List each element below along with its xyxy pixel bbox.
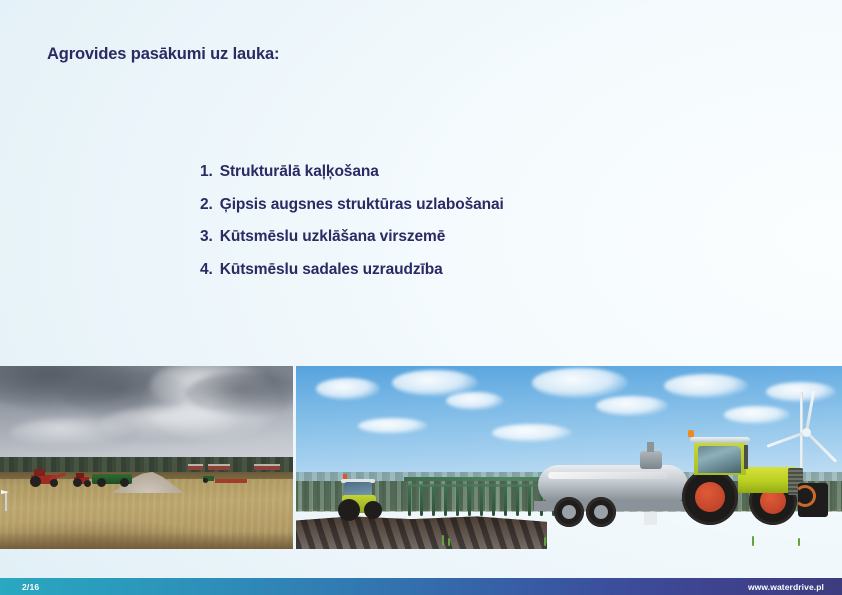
list-item-number: 2. [200,196,213,214]
claas-tractor [676,437,828,525]
field-marker-flag [5,491,7,511]
photo-lime-spreading [0,366,293,549]
page-title: Agrovides pasākumi uz lauka: [47,45,279,64]
list-item-label: Kūtsmēslu uzklāšana virszemē [220,228,446,246]
slurry-tanker [528,461,698,527]
wind-turbine-hub [802,428,811,437]
list-item: 4. Kūtsmēslu sadales uzraudzība [200,261,760,279]
list-item-number: 3. [200,228,213,246]
footer-website-url[interactable]: www.waterdrive.pl [748,578,824,595]
list-item-label: Ģipsis augsnes struktūras uzlabošanai [220,196,504,214]
page-number: 2/16 [22,578,39,595]
photo-slurry-injection [296,366,842,549]
list-item: 3. Kūtsmēslu uzklāšana virszemē [200,228,760,246]
overcast-sky [0,366,293,472]
red-tractor [28,471,64,487]
distant-implement [215,479,247,483]
list-item-number: 4. [200,261,213,279]
footer-bar: 2/16 www.waterdrive.pl [0,578,842,595]
second-red-tractor [72,474,92,487]
list-item-label: Strukturālā kaļķošana [220,163,379,181]
second-claas-tractor [338,477,384,521]
list-item-number: 1. [200,163,213,181]
photo-strip [0,366,842,549]
numbered-measure-list: 1. Strukturālā kaļķošana 2. Ģipsis augsn… [200,163,760,293]
list-item: 1. Strukturālā kaļķošana [200,163,760,181]
green-lime-spreader [92,473,134,487]
list-item: 2. Ģipsis augsnes struktūras uzlabošanai [200,196,760,214]
list-item-label: Kūtsmēslu sadales uzraudzība [220,261,443,279]
